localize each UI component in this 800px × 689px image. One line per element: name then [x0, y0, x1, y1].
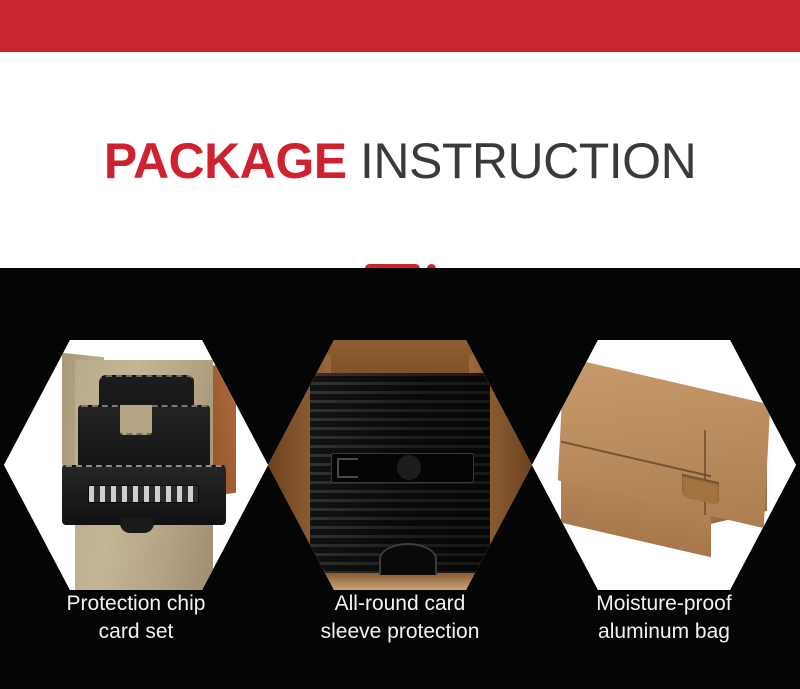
- hexagon-frame: [532, 340, 796, 590]
- gallery-strip: Protection chip card set: [0, 268, 800, 689]
- caption-line-2: card set: [4, 618, 268, 646]
- chip-contacts-window: [88, 485, 199, 503]
- caption-line-1: All-round card: [335, 592, 466, 615]
- gallery-item-all-round-card-sleeve: All-round card sleeve protection: [268, 268, 532, 689]
- caption-line-2: sleeve protection: [268, 618, 532, 646]
- hexagon-mask: [268, 340, 532, 590]
- gallery-item-caption: Protection chip card set: [4, 590, 268, 645]
- gallery-item-protection-chip-card-set: Protection chip card set: [4, 268, 268, 689]
- product-photo-chip-card-set: [4, 340, 268, 590]
- page-title-strong: PACKAGE: [104, 133, 347, 189]
- caption-line-1: Moisture-proof: [596, 592, 731, 615]
- top-accent-bar: [0, 0, 800, 52]
- caption-line-2: aluminum bag: [532, 618, 796, 646]
- gallery-item-caption: Moisture-proof aluminum bag: [532, 590, 796, 645]
- title-panel: PACKAGE INSTRUCTION: [0, 52, 800, 268]
- product-photo-kraft-box: [532, 340, 796, 590]
- box-seam-vertical: [704, 430, 706, 515]
- gallery-item-moisture-proof-aluminum-bag: Moisture-proof aluminum bag: [532, 268, 796, 689]
- caption-line-1: Protection chip: [67, 592, 206, 615]
- chip-card-tab: [120, 518, 154, 533]
- product-photo-card-sleeve: [268, 340, 532, 590]
- chip-card-notch: [120, 405, 152, 435]
- hexagon-frame: [268, 340, 532, 590]
- hexagon-mask: [4, 340, 268, 590]
- sleeve-slot-hole: [397, 455, 421, 480]
- gallery-item-caption: All-round card sleeve protection: [268, 590, 532, 645]
- page-title-light: INSTRUCTION: [347, 133, 697, 189]
- hexagon-mask: [532, 340, 796, 590]
- page-title: PACKAGE INSTRUCTION: [0, 136, 800, 186]
- package-instruction-banner: PACKAGE INSTRUCTION: [0, 0, 800, 689]
- hexagon-frame: [4, 340, 268, 590]
- sleeve-arch-cutout: [379, 543, 437, 576]
- sleeve-slot-bracket: [337, 458, 358, 478]
- gallery-cards: Protection chip card set: [0, 268, 800, 689]
